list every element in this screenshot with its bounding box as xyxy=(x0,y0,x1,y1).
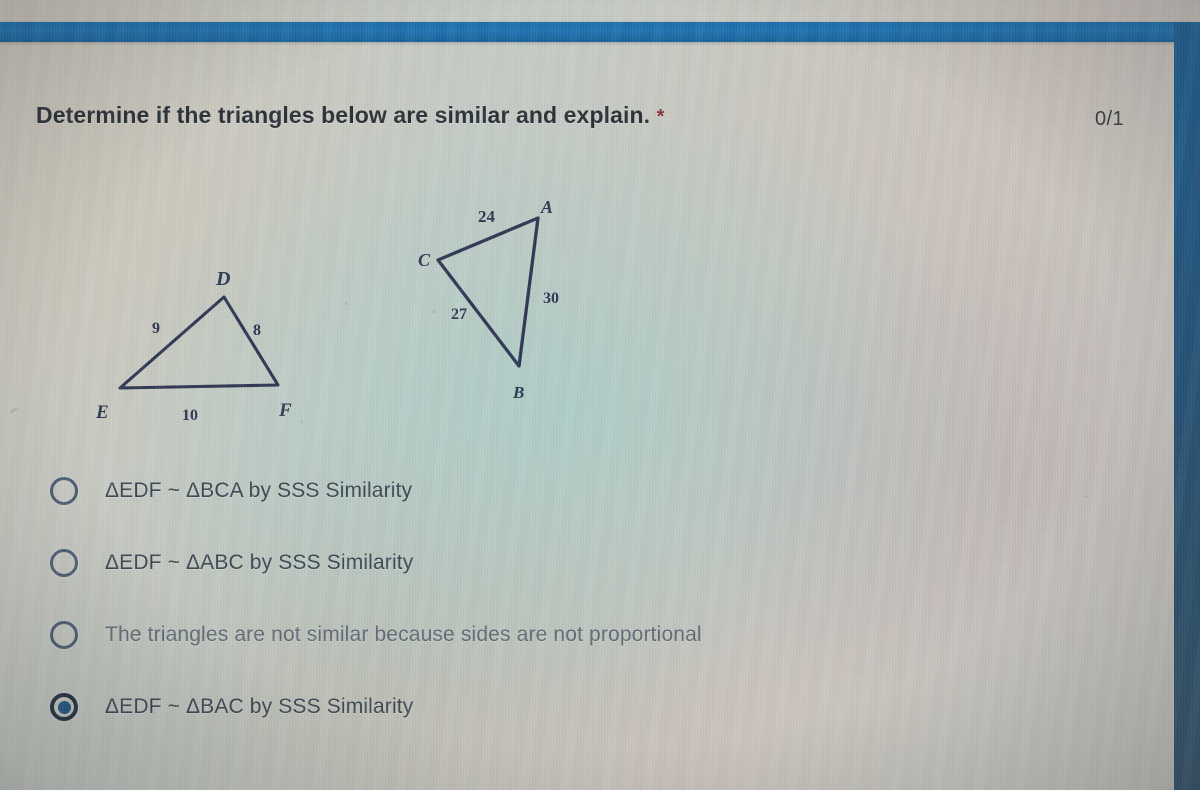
vertex-label-C: C xyxy=(418,250,431,270)
question-text: Determine if the triangles below are sim… xyxy=(36,102,650,128)
vertex-label-F: F xyxy=(278,400,292,421)
side-length-AB: 30 xyxy=(543,290,559,307)
screenshot-root: Determine if the triangles below are sim… xyxy=(0,0,1200,790)
card-corner xyxy=(1152,42,1178,68)
option-row-4[interactable]: ΔEDF ~ ΔBAC by SSS Similarity xyxy=(0,671,1100,743)
triangles-figure: D E F 9 8 10 A C B 24 30 27 xyxy=(0,150,700,440)
option-label-4: ΔEDF ~ ΔBAC by SSS Similarity xyxy=(105,695,413,719)
side-length-CA: 24 xyxy=(478,207,496,226)
triangle-DEF-shape xyxy=(120,297,278,388)
option-row-1[interactable]: ΔEDF ~ ΔBCA by SSS Similarity xyxy=(0,455,1100,527)
radio-button-1[interactable] xyxy=(50,477,78,505)
option-label-3: The triangles are not similar because si… xyxy=(105,623,702,647)
vertex-label-A: A xyxy=(540,197,553,217)
question-title: Determine if the triangles below are sim… xyxy=(36,102,665,129)
vertex-label-E: E xyxy=(95,402,109,423)
side-length-DF: 8 xyxy=(253,322,261,339)
triangle-ABC-shape xyxy=(438,218,538,366)
vertex-label-B: B xyxy=(512,383,524,402)
side-length-EF: 10 xyxy=(182,407,198,424)
score-badge: 0/1 xyxy=(1095,108,1124,131)
radio-button-2[interactable] xyxy=(50,549,78,577)
side-length-DE: 9 xyxy=(152,320,160,337)
option-row-3[interactable]: The triangles are not similar because si… xyxy=(0,599,1100,671)
vertex-label-D: D xyxy=(215,268,230,290)
option-label-2: ΔEDF ~ ΔABC by SSS Similarity xyxy=(105,551,413,575)
side-length-CB: 27 xyxy=(451,306,467,323)
top-chrome-bar xyxy=(0,22,1200,42)
radio-button-4[interactable] xyxy=(50,693,78,721)
required-asterisk: * xyxy=(657,106,665,128)
radio-button-3[interactable] xyxy=(50,621,78,649)
right-chrome-column xyxy=(1174,22,1200,790)
option-row-2[interactable]: ΔEDF ~ ΔABC by SSS Similarity xyxy=(0,527,1100,599)
option-label-1: ΔEDF ~ ΔBCA by SSS Similarity xyxy=(105,479,412,503)
answer-options-group[interactable]: ΔEDF ~ ΔBCA by SSS Similarity ΔEDF ~ ΔAB… xyxy=(0,455,1100,743)
